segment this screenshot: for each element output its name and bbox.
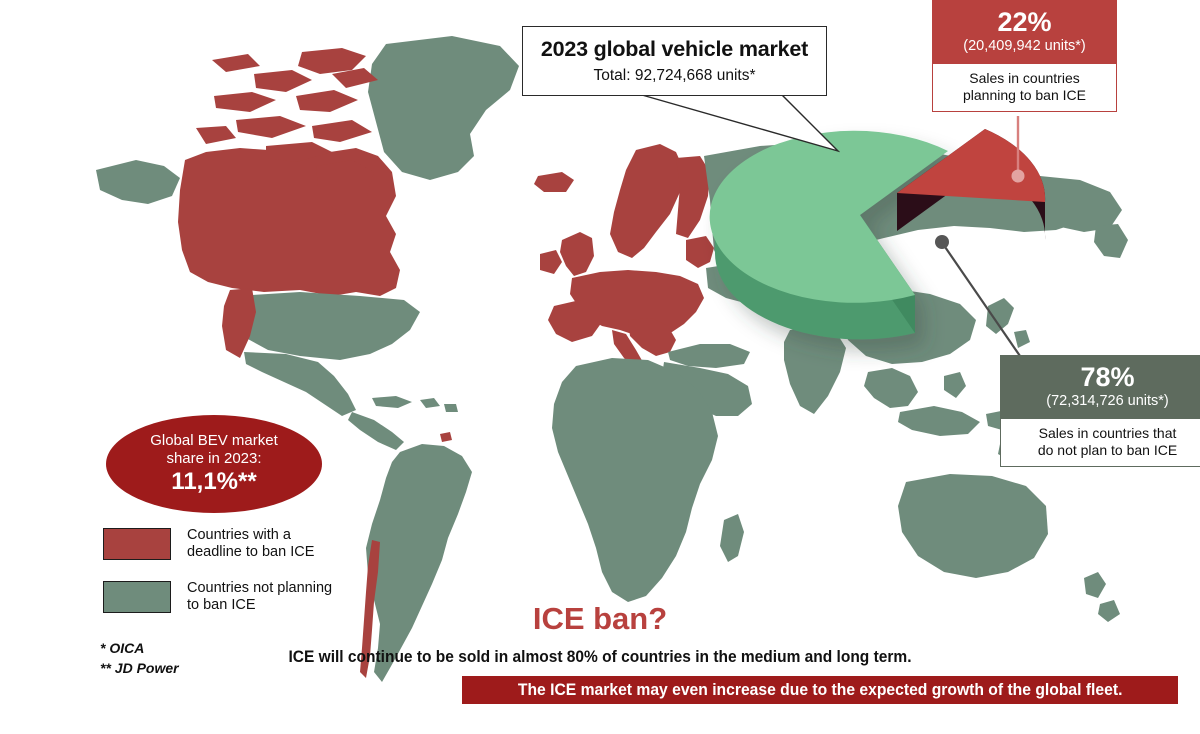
pie-green-slice-group — [710, 131, 948, 340]
legend-ban-line1: Countries with a — [187, 527, 314, 544]
no-ban-percent: 78% — [1006, 363, 1200, 391]
ban-callout-header: 22% (20,409,942 units*) — [932, 0, 1117, 64]
legend-swatch-red — [103, 528, 171, 560]
legend-no-ban-line1: Countries not planning — [187, 580, 332, 597]
europe-iberia-ban — [548, 300, 602, 342]
no-ban-desc-line2: do not plan to ban ICE — [1005, 442, 1200, 459]
country-greenland — [368, 36, 519, 180]
ice-ban-statement: ICE will continue to be sold in almost 8… — [36, 648, 1164, 667]
us-west-coast-ban-states — [222, 288, 256, 358]
europe-scandinavia-ban — [610, 144, 684, 258]
no-ban-units: (72,314,726 units*) — [1006, 394, 1200, 410]
market-title: 2023 global vehicle market — [541, 38, 808, 62]
no-ban-countries-callout: 78% (72,314,726 units*) Sales in countri… — [1000, 355, 1200, 467]
ice-market-banner-text: The ICE market may even increase due to … — [518, 681, 1123, 700]
legend-item-ban: Countries with a deadline to ban ICE — [103, 527, 332, 562]
ban-units: (20,409,942 units*) — [938, 39, 1111, 55]
ice-ban-headline: ICE ban? — [0, 601, 1200, 637]
canada-arctic-islands — [196, 48, 378, 162]
continent-africa — [552, 358, 718, 602]
central-america — [348, 412, 404, 450]
title-callout-tail — [640, 94, 840, 154]
ban-countries-callout: 22% (20,409,942 units*) Sales in countri… — [932, 0, 1117, 112]
ice-market-banner: The ICE market may even increase due to … — [462, 676, 1178, 704]
infographic-canvas: 2023 global vehicle market Total: 92,724… — [0, 0, 1200, 734]
bev-label-line2: share in 2023: — [166, 450, 261, 468]
legend-label-ban: Countries with a deadline to ban ICE — [187, 527, 314, 562]
legend-ban-line2: deadline to ban ICE — [187, 544, 314, 561]
continent-south-america — [366, 444, 472, 682]
ban-desc-line1: Sales in countries — [937, 70, 1112, 87]
ban-callout-body: Sales in countries planning to ban ICE — [932, 64, 1117, 112]
ban-desc-line2: planning to ban ICE — [937, 87, 1112, 104]
no-ban-desc-line1: Sales in countries that — [1005, 425, 1200, 442]
brazil-coast-marker — [440, 432, 452, 442]
bev-market-share-badge: Global BEV market share in 2023: 11,1%** — [106, 415, 322, 513]
country-iceland — [534, 172, 574, 192]
country-madagascar — [720, 514, 744, 562]
country-united-states — [234, 292, 420, 360]
country-mexico — [244, 352, 356, 416]
market-total: Total: 92,724,668 units* — [593, 67, 755, 84]
country-alaska — [96, 160, 180, 204]
no-ban-callout-header: 78% (72,314,726 units*) — [1000, 355, 1200, 419]
bev-value: 11,1%** — [171, 469, 256, 495]
caribbean-islands — [372, 396, 458, 412]
europe-uk-ireland-ban — [540, 232, 594, 276]
market-title-callout: 2023 global vehicle market Total: 92,724… — [522, 26, 827, 96]
no-ban-callout-body: Sales in countries that do not plan to b… — [1000, 419, 1200, 467]
ban-percent: 22% — [938, 8, 1111, 36]
bev-label-line1: Global BEV market — [150, 432, 278, 450]
country-australia — [898, 474, 1048, 578]
